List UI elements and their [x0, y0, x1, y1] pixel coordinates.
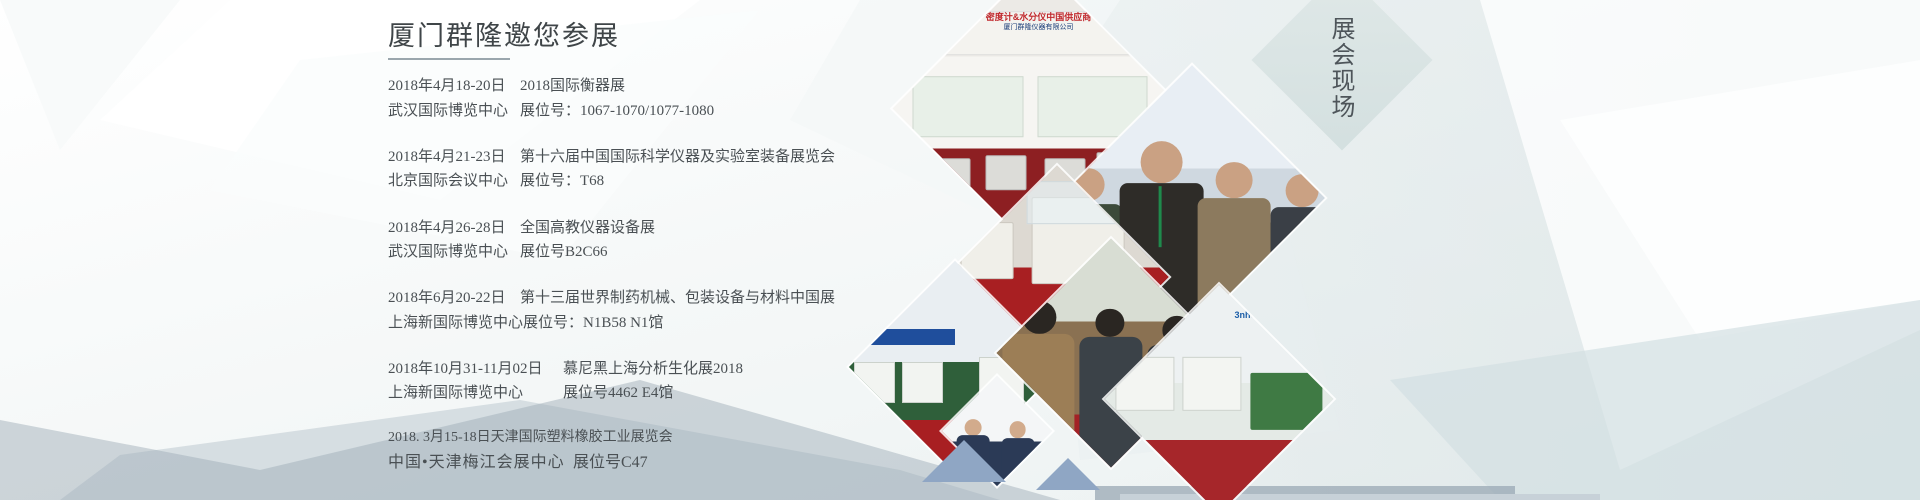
- event-info-panel: 厦门群隆邀您参展 2018年4月18-20日2018国际衡器展 武汉国际博览中心…: [388, 18, 948, 476]
- event-line-primary: 2018年4月18-20日2018国际衡器展: [388, 74, 948, 98]
- booth-device: [985, 154, 1026, 189]
- event-date: 2018年4月18-20日: [388, 74, 520, 98]
- person-head: [1141, 141, 1183, 183]
- event-booth: 展位号C47: [573, 454, 648, 471]
- list-item: 2018年4月21-23日第十六届中国国际科学仪器及实验室装备展览会 北京国际会…: [388, 145, 948, 194]
- event-line-primary: 2018. 3月15-18日天津国际塑料橡胶工业展览会: [388, 427, 948, 450]
- event-date: 2018年4月21-23日: [388, 145, 520, 169]
- person-head: [1216, 162, 1252, 198]
- machine: [1250, 373, 1323, 430]
- title-underline: [388, 58, 510, 60]
- exhibition-schedule-list: 2018年4月18-20日2018国际衡器展 武汉国际博览中心展位号：1067-…: [388, 74, 948, 476]
- event-booth: 展位号：1067-1070/1077-1080: [520, 103, 714, 119]
- event-line-secondary: 上海新国际博览中心展位号4462 E4馆: [388, 381, 948, 405]
- person-body: [1002, 437, 1034, 486]
- event-name: 慕尼黑上海分析生化展2018: [563, 361, 743, 377]
- person-body: [1270, 207, 1325, 331]
- event-venue: 武汉国际博览中心: [388, 99, 520, 123]
- event-date: 2018. 3月15-18日天津国际塑料橡胶工业展览会: [388, 427, 673, 450]
- event-name: 第十六届中国国际科学仪器及实验室装备展览会: [520, 149, 835, 165]
- page-title: 厦门群隆邀您参展: [388, 18, 948, 54]
- triangle-accent-icon: [1036, 458, 1100, 490]
- printer-device: [961, 221, 1014, 279]
- event-venue: 中国•天津梅江会展中心: [388, 450, 573, 476]
- event-line-primary: 2018年4月21-23日第十六届中国国际科学仪器及实验室装备展览会: [388, 145, 948, 169]
- event-venue: 武汉国际博览中心: [388, 240, 520, 264]
- event-line-primary: 2018年6月20-22日第十三届世界制药机械、包装设备与材料中国展: [388, 286, 948, 310]
- collage-label: 展会现场: [1320, 16, 1354, 120]
- event-line-secondary: 北京国际会议中心展位号：T68: [388, 169, 948, 193]
- lanyard: [1159, 186, 1162, 246]
- event-line-secondary: 武汉国际博览中心展位号B2C66: [388, 240, 948, 264]
- person-head: [1285, 174, 1318, 207]
- event-date: 2018年10月31-11月02日: [388, 357, 563, 381]
- event-name: 全国高教仪器设备展: [520, 220, 655, 236]
- event-name: 2018国际衡器展: [520, 78, 625, 94]
- person-head: [965, 419, 982, 436]
- event-booth: 展位号：N1B58 N1馆: [523, 315, 663, 331]
- person-head: [1095, 309, 1124, 338]
- event-line-secondary: 上海新国际博览中心展位号：N1B58 N1馆: [388, 311, 948, 335]
- event-line-secondary: 中国•天津梅江会展中心展位号C47: [388, 450, 948, 476]
- photo-collage: 展会现场 密度计&水分仪中国供应商 厦门群隆仪器有限公司: [1020, 0, 1500, 500]
- booth-card: [1183, 358, 1242, 412]
- event-venue: 北京国际会议中心: [388, 169, 520, 193]
- event-venue: 上海新国际博览中心: [388, 381, 563, 405]
- event-line-secondary: 武汉国际博览中心展位号：1067-1070/1077-1080: [388, 99, 948, 123]
- event-date: 2018年6月20-22日: [388, 286, 520, 310]
- person-head: [1009, 421, 1025, 437]
- event-date: 2018年4月26-28日: [388, 216, 520, 240]
- list-item: 2018年6月20-22日第十三届世界制药机械、包装设备与材料中国展 上海新国际…: [388, 286, 948, 335]
- list-item: 2018. 3月15-18日天津国际塑料橡胶工业展览会 中国•天津梅江会展中心展…: [388, 427, 948, 476]
- event-line-primary: 2018年4月26-28日全国高教仪器设备展: [388, 216, 948, 240]
- list-item: 2018年4月26-28日全国高教仪器设备展 武汉国际博览中心展位号B2C66: [388, 216, 948, 265]
- event-line-primary: 2018年10月31-11月02日慕尼黑上海分析生化展2018: [388, 357, 948, 381]
- exhibition-banner: 厦门群隆邀您参展 2018年4月18-20日2018国际衡器展 武汉国际博览中心…: [0, 0, 1920, 500]
- event-name: 第十三届世界制药机械、包装设备与材料中国展: [520, 290, 835, 306]
- event-booth: 展位号B2C66: [520, 244, 608, 260]
- event-booth: 展位号4462 E4馆: [563, 385, 673, 401]
- event-venue: 上海新国际博览中心: [388, 311, 523, 335]
- booth-logo: 3nhCAT: [1235, 311, 1269, 321]
- event-booth: 展位号：T68: [520, 173, 604, 189]
- list-item: 2018年10月31-11月02日慕尼黑上海分析生化展2018 上海新国际博览中…: [388, 357, 948, 406]
- list-item: 2018年4月18-20日2018国际衡器展 武汉国际博览中心展位号：1067-…: [388, 74, 948, 123]
